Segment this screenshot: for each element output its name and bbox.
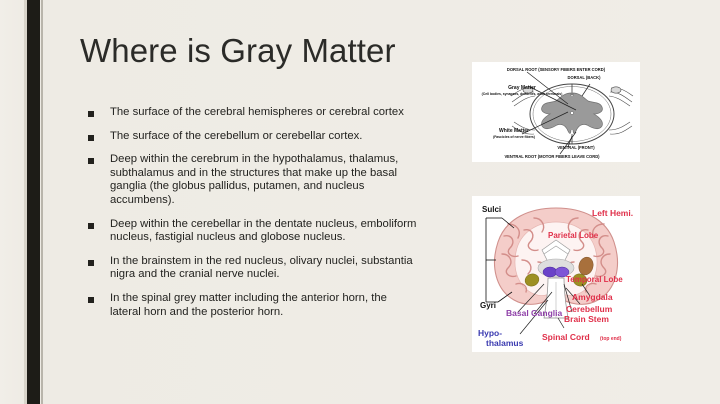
bullet-square-icon	[88, 111, 94, 117]
spinal-cord-figure: DORSAL ROOT (SENSORY FIBERS ENTER CORD) …	[472, 62, 640, 162]
list-item: Deep within the cerebrum in the hypothal…	[88, 153, 418, 207]
bullet-list: The surface of the cerebral hemispheres …	[88, 106, 418, 329]
list-item: In the spinal grey matter including the …	[88, 292, 418, 319]
slide-accent-bar-thin	[41, 0, 43, 404]
list-item: Deep within the cerebellar in the dentat…	[88, 218, 418, 245]
bullet-square-icon	[88, 297, 94, 303]
label-white-matter: White Matter	[499, 128, 529, 134]
list-item-text: In the spinal grey matter including the …	[110, 292, 418, 319]
label-left-hemi-line1: Left Hemi.	[592, 208, 633, 218]
central-canal	[570, 111, 573, 114]
bullet-square-icon	[88, 158, 94, 164]
list-item-text: In the brainstem in the red nucleus, oli…	[110, 255, 418, 282]
list-item-text: Deep within the cerebrum in the hypothal…	[110, 153, 418, 207]
bullet-square-icon	[88, 135, 94, 141]
list-item: In the brainstem in the red nucleus, oli…	[88, 255, 418, 282]
spinal-cord-diagram: DORSAL ROOT (SENSORY FIBERS ENTER CORD) …	[472, 62, 640, 162]
label-spinal-cord: Spinal Cord	[542, 332, 590, 342]
label-dorsal-root: DORSAL ROOT (SENSORY FIBERS ENTER CORD)	[507, 67, 606, 72]
page-title: Where is Gray Matter	[80, 32, 396, 70]
slide-canvas: Where is Gray Matter The surface of the …	[0, 0, 720, 404]
label-parietal-lobe: Parietal Lobe	[548, 231, 599, 240]
dorsal-root-ganglion-right	[611, 87, 621, 93]
list-item-text: Deep within the cerebellar in the dentat…	[110, 218, 418, 245]
label-brain-stem: Brain Stem	[564, 314, 609, 324]
label-hypothalamus-line2: thalamus	[486, 338, 524, 348]
label-basal-ganglia-line1: Basal Ganglia	[506, 308, 562, 318]
label-amygdala: Amygdala	[572, 292, 613, 302]
label-hypothalamus-line1: Hypo-	[478, 328, 502, 338]
label-sulci: Sulci	[482, 205, 501, 214]
label-ventral-front: VENTRAL (FRONT)	[557, 145, 595, 150]
label-gray-matter: Gray Matter	[508, 85, 536, 91]
list-item: The surface of the cerebellum or cerebel…	[88, 130, 418, 144]
label-dorsal-back: DORSAL (BACK)	[568, 75, 602, 80]
label-white-matter-sub: (Fascicles of nerve fibers)	[493, 135, 535, 139]
bullet-square-icon	[88, 223, 94, 229]
list-item-text: The surface of the cerebral hemispheres …	[110, 106, 418, 120]
label-spinal-cord-note: (top end)	[600, 336, 622, 342]
label-cerebellum: Cerebellum	[566, 304, 613, 314]
slide-accent-bar	[27, 0, 40, 404]
label-gyri: Gyri	[480, 301, 496, 310]
list-item-text: The surface of the cerebellum or cerebel…	[110, 130, 418, 144]
list-item: The surface of the cerebral hemispheres …	[88, 106, 418, 120]
label-temporal-lobe: Temporal Lobe	[566, 275, 623, 284]
bullet-square-icon	[88, 260, 94, 266]
brain-coronal-diagram: Sulci Gyri Left Hemi. Parietal Lobe Temp…	[472, 196, 640, 352]
brain-section-figure: Sulci Gyri Left Hemi. Parietal Lobe Temp…	[472, 196, 640, 352]
label-gray-matter-sub: (Cell bodies, synapses, dendrites, axon …	[482, 92, 563, 96]
label-ventral-root: VENTRAL ROOT (MOTOR FIBERS LEAVE CORD)	[504, 154, 600, 159]
